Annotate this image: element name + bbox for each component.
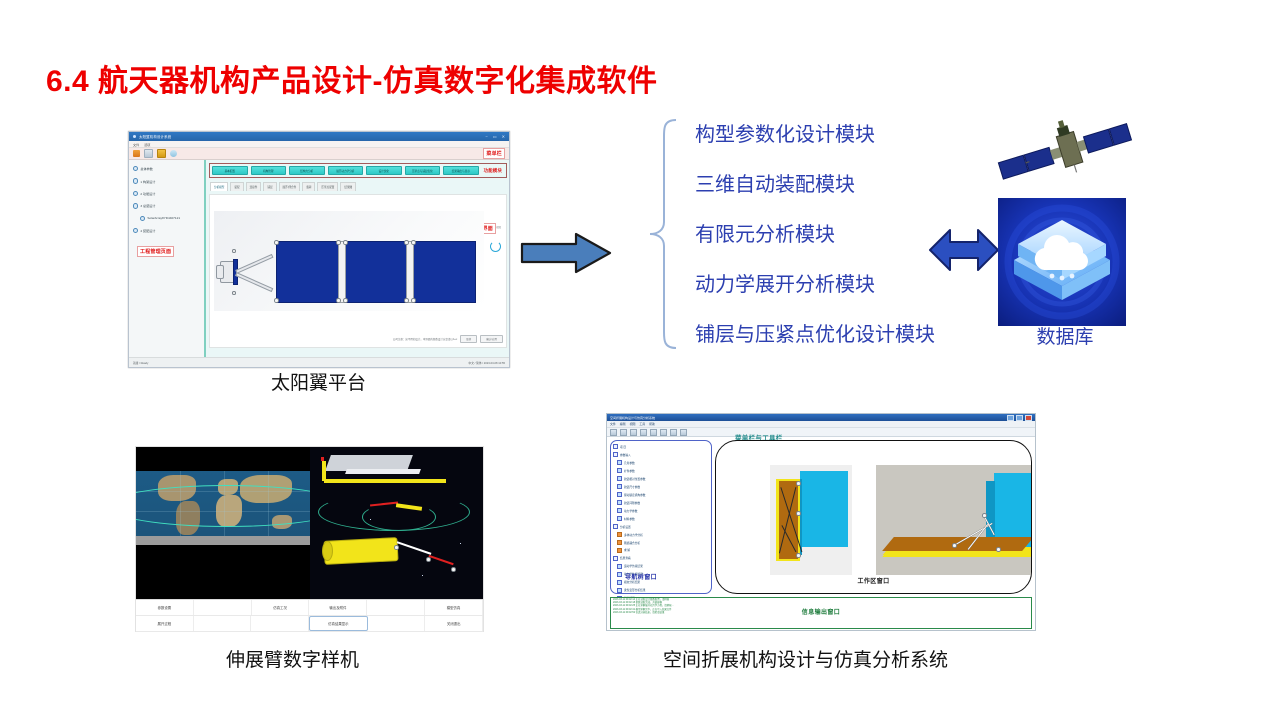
joint bbox=[982, 513, 987, 518]
tree-item-label: 分析设置 bbox=[620, 525, 631, 529]
menu-item-options[interactable]: 选项 bbox=[144, 142, 150, 147]
function-module-bar[interactable]: 基本配置 机构管理 结构力分析 展开动力学分析 设计优化 压紧点与铺层优化 结果… bbox=[209, 163, 507, 178]
solar-array-model bbox=[214, 211, 484, 311]
tree-node-icon bbox=[617, 540, 622, 545]
module-item-auto-assembly[interactable]: 三维自动装配模块 bbox=[695, 168, 985, 197]
boom-button-spacer bbox=[251, 616, 309, 631]
annotation-menu-bar: 菜单栏 bbox=[483, 148, 505, 159]
curly-brace-icon bbox=[648, 118, 678, 350]
tab-deploy[interactable]: 展开/闭合件 bbox=[279, 182, 301, 191]
settings-icon[interactable] bbox=[170, 150, 177, 157]
menu-item-tools[interactable]: 工具 bbox=[639, 422, 645, 426]
tree-item[interactable]: SolarArray8YD4407121 bbox=[140, 216, 201, 221]
tree-item[interactable]: 结果查看 bbox=[613, 556, 709, 561]
tree-item[interactable]: 杆件参数 bbox=[617, 468, 709, 473]
confirm-button[interactable]: 确认/应用 bbox=[480, 335, 503, 343]
menu-bar[interactable]: 文件 编辑 视图 工具 帮助 bbox=[607, 421, 1035, 428]
arrow-right-icon bbox=[520, 232, 612, 274]
tree-item[interactable]: 刚柔耦合分析 bbox=[617, 540, 709, 545]
tree-item-label: 刚柔耦合分析 bbox=[624, 541, 640, 545]
window-body: 总体参数 1 构架设计 2 功能设计 3 总装设计 SolarArray8YD4… bbox=[129, 160, 509, 368]
tree-node-icon bbox=[133, 166, 138, 171]
toolbar[interactable]: 菜单栏 bbox=[129, 148, 509, 160]
tree-node-icon bbox=[617, 532, 622, 537]
menu-item-view[interactable]: 视图 bbox=[630, 422, 636, 426]
hinge-pin bbox=[343, 298, 348, 303]
tree-item-label: 几何参数 bbox=[624, 461, 635, 465]
boom-button-spacer bbox=[367, 600, 425, 615]
solar-panel-3 bbox=[412, 241, 476, 303]
tree-node-icon bbox=[140, 216, 145, 221]
module-item-layup-optimization[interactable]: 铺层与压紧点优化设计模块 bbox=[695, 318, 985, 347]
tree-item[interactable]: 3 总装设计 bbox=[133, 203, 201, 208]
cancel-button[interactable]: 取消 bbox=[460, 335, 477, 343]
joint bbox=[952, 543, 957, 548]
caption-boom: 伸展臂数字样机 bbox=[226, 645, 359, 672]
tree-item[interactable]: 动力学参数 bbox=[617, 508, 709, 513]
orbit-arc-2 bbox=[362, 503, 436, 531]
paste-icon[interactable] bbox=[660, 429, 667, 436]
annotation-function-modules: 功能模块 bbox=[482, 168, 504, 174]
status-bar: 就绪 / Ready 中文 / 简体 / 2023-03-08 10:55 bbox=[129, 357, 509, 367]
tree-node-icon bbox=[617, 500, 622, 505]
deployed-panel-edge bbox=[345, 469, 421, 474]
solar-panel-2 bbox=[344, 241, 408, 303]
close-icon[interactable]: ✕ bbox=[502, 134, 505, 139]
boom-button-output[interactable]: 输出及附件 bbox=[309, 600, 367, 615]
main-interface-panel: 基本配置 机构管理 结构力分析 展开动力学分析 设计优化 压紧点与铺层优化 结果… bbox=[206, 160, 509, 368]
tree-item-label: 杆件参数 bbox=[624, 469, 635, 473]
close-icon[interactable] bbox=[1025, 415, 1032, 421]
open-icon[interactable] bbox=[620, 429, 627, 436]
tree-item[interactable]: 求 解 bbox=[617, 548, 709, 553]
tree-item[interactable]: 柔性变形分析结果 bbox=[617, 588, 709, 593]
window-control-buttons[interactable] bbox=[1007, 415, 1032, 421]
minimize-icon[interactable] bbox=[1007, 415, 1014, 421]
toolbar[interactable] bbox=[607, 428, 1035, 437]
satellite-icon bbox=[995, 113, 1135, 198]
tree-item[interactable]: 项 目 bbox=[613, 444, 709, 449]
tree-item-label: 模态分析结果 bbox=[624, 580, 640, 584]
tab-analysis-model[interactable]: 分析模型 bbox=[210, 182, 228, 191]
tree-node-icon bbox=[617, 460, 622, 465]
boom-joint bbox=[426, 557, 431, 562]
copy-icon[interactable] bbox=[650, 429, 657, 436]
tree-node-icon bbox=[617, 588, 622, 593]
boom-button-case[interactable]: 仿真工况 bbox=[252, 600, 310, 615]
support-arm-upper bbox=[235, 254, 273, 274]
function-button[interactable]: 结果输出与显示 bbox=[443, 166, 479, 175]
window-control-buttons[interactable]: − ▭ ✕ bbox=[486, 134, 505, 139]
deployed-panel bbox=[882, 537, 1032, 551]
hinge-gap-1 bbox=[338, 241, 346, 303]
annotation-output-window: 信息输出窗口 bbox=[802, 607, 840, 616]
boom-button-simulate[interactable]: 模型仿真 bbox=[425, 600, 483, 615]
maximize-icon[interactable]: ▭ bbox=[493, 134, 497, 139]
nav-tree-panel[interactable]: 项 目 参数输入 几何参数 杆件参数 铰链相对位置参数 铰链尺寸参数 驱动锁定机… bbox=[610, 440, 712, 594]
minimize-icon[interactable]: − bbox=[486, 134, 488, 139]
boom-joint bbox=[394, 545, 399, 550]
caption-deployable: 空间折展机构设计与仿真分析系统 bbox=[663, 645, 948, 672]
hinge-gap-2 bbox=[406, 241, 414, 303]
menu-item-help[interactable]: 帮助 bbox=[649, 422, 655, 426]
solar-wing-app-window[interactable]: 太阳翼机构设计系统 − ▭ ✕ 文件 选项 菜单栏 总体参数 bbox=[128, 131, 510, 368]
database-label: 数据库 bbox=[1010, 322, 1120, 349]
window-title-bar: 太阳翼机构设计系统 − ▭ ✕ bbox=[129, 132, 509, 141]
save-icon[interactable] bbox=[630, 429, 637, 436]
boom-root-block bbox=[322, 461, 326, 481]
tree-item-label: 驱动锁定机构参数 bbox=[624, 493, 646, 497]
tree-item[interactable]: 参数输入 bbox=[613, 452, 709, 457]
arrow-left-right-icon bbox=[928, 226, 1000, 274]
hinge-pin bbox=[274, 240, 279, 245]
canvas-footer: 公司注意：如不用的设计，本界面的参数设计方案请以A+x 取消 确认/应用 bbox=[393, 335, 503, 343]
page-title: 6.4 航天器机构产品设计-仿真数字化集成软件 bbox=[46, 56, 658, 100]
tree-item-label: 运动学仿真结果 bbox=[624, 564, 643, 568]
boom-3d-views[interactable] bbox=[310, 447, 483, 599]
boom-button-spacer bbox=[194, 600, 252, 615]
tree-item-label: 铰链尺寸参数 bbox=[624, 485, 640, 489]
hinge-pin bbox=[404, 298, 409, 303]
window-title-text: 太阳翼机构设计系统 bbox=[139, 134, 486, 139]
tree-node-icon bbox=[613, 452, 618, 457]
undo-icon[interactable] bbox=[670, 429, 677, 436]
cloud-database-icon bbox=[998, 198, 1126, 326]
tab-results[interactable]: 结果图 bbox=[340, 182, 356, 191]
boom-views bbox=[136, 447, 483, 599]
tree-item[interactable]: 多体动力学分析 bbox=[617, 532, 709, 537]
help-icon[interactable] bbox=[680, 429, 687, 436]
tree-node-icon bbox=[133, 178, 138, 183]
canvas-note-text: 公司注意：如不用的设计，本界面的参数设计方案请以A+x bbox=[393, 337, 457, 341]
boom-button-params[interactable]: 参数设置 bbox=[136, 600, 194, 615]
menu-bar[interactable]: 文件 选项 bbox=[129, 141, 509, 148]
yoke-root bbox=[216, 265, 224, 279]
tree-node-icon bbox=[617, 572, 622, 577]
refresh-icon[interactable] bbox=[490, 241, 501, 252]
hinge-pin bbox=[343, 240, 348, 245]
boom-button-spacer bbox=[194, 616, 252, 631]
joint bbox=[996, 547, 1001, 552]
output-window[interactable]: 2023-03-11 09:02:14 正在读取设计参数配置，请稍候 2023-… bbox=[610, 597, 1032, 629]
tree-item-label: 2 功能设计 bbox=[140, 191, 155, 196]
menu-item-file[interactable]: 文件 bbox=[133, 142, 139, 147]
hinge-pin bbox=[274, 298, 279, 303]
tree-item-label: 4 装配设计 bbox=[140, 228, 155, 233]
solar-panel-1 bbox=[276, 241, 340, 303]
map-scale-bar bbox=[136, 536, 310, 545]
canvas-side-text: 视图 bbox=[496, 225, 501, 229]
tree-item-label: 求 解 bbox=[624, 548, 630, 552]
joint bbox=[796, 511, 801, 516]
status-left-text: 就绪 / Ready bbox=[133, 361, 148, 365]
menu-item-file[interactable]: 文件 bbox=[610, 422, 616, 426]
boom-rail-top bbox=[324, 479, 446, 483]
tree-item[interactable]: 运动学仿真结果 bbox=[617, 564, 709, 569]
app-icon bbox=[133, 135, 136, 138]
folded-mechanism-view bbox=[770, 465, 852, 575]
hinge-pin bbox=[336, 298, 341, 303]
window-title-text: 空间折展机构设计与仿真分析系统 bbox=[610, 416, 1007, 420]
boom-prototype-app[interactable]: 参数设置 仿真工况 输出及附件 模型仿真 展开过程 仿真结果显示 关闭退出 bbox=[135, 446, 484, 632]
annotation-work-window: 工作区窗口 bbox=[857, 576, 889, 585]
button-row[interactable]: 展开过程 仿真结果显示 关闭退出 bbox=[136, 616, 483, 632]
tree-node-icon bbox=[617, 476, 622, 481]
ground-track bbox=[136, 485, 310, 527]
anchor-point bbox=[232, 249, 236, 253]
deployed-panel-edge bbox=[882, 553, 1032, 557]
boom-button-bar[interactable]: 参数设置 仿真工况 输出及附件 模型仿真 展开过程 仿真结果显示 关闭退出 bbox=[136, 599, 483, 630]
tab-load[interactable]: 载荷 bbox=[302, 182, 315, 191]
save-icon[interactable] bbox=[144, 149, 153, 158]
root-marker bbox=[321, 457, 324, 461]
tree-item[interactable]: 铰链尺寸参数 bbox=[617, 484, 709, 489]
tab-presspoint[interactable]: 压紧点配置 bbox=[317, 182, 338, 191]
export-icon[interactable] bbox=[157, 149, 166, 158]
joint bbox=[796, 553, 801, 558]
tab-bar[interactable]: 分析模型 装配 连接件 铺层 展开/闭合件 载荷 压紧点配置 结果图 bbox=[209, 182, 507, 191]
tree-node-icon bbox=[613, 556, 618, 561]
support-arm-lower bbox=[235, 272, 273, 292]
function-button[interactable]: 压紧点与铺层优化 bbox=[405, 166, 441, 175]
boom-tube bbox=[323, 537, 398, 565]
boom-button-exit[interactable]: 关闭退出 bbox=[425, 616, 483, 631]
tree-node-icon bbox=[613, 524, 618, 529]
tree-item[interactable]: 驱动锁定机构参数 bbox=[617, 492, 709, 497]
tree-item-label: 多体动力学分析 bbox=[624, 533, 643, 537]
satellite-body-block bbox=[800, 471, 848, 547]
tree-item[interactable]: 4 装配设计 bbox=[133, 228, 201, 233]
tree-item-label: 1 构架设计 bbox=[140, 179, 155, 184]
tree-item-label: 参数输入 bbox=[620, 453, 631, 457]
boom-button-results[interactable]: 仿真结果显示 bbox=[309, 616, 368, 631]
tree-node-icon bbox=[617, 484, 622, 489]
boom-button-deploy[interactable]: 展开过程 bbox=[136, 616, 194, 631]
function-button[interactable]: 设计优化 bbox=[366, 166, 402, 175]
slide-root: 6.4 航天器机构产品设计-仿真数字化集成软件 太阳翼机构设计系统 − ▭ ✕ … bbox=[0, 0, 1280, 720]
tree-node-icon bbox=[133, 203, 138, 208]
function-button[interactable]: 展开动力学分析 bbox=[328, 166, 364, 175]
annotation-project-tree: 工程管理页面 bbox=[137, 246, 174, 257]
boom-tube-cap bbox=[322, 541, 333, 561]
project-tree-panel[interactable]: 总体参数 1 构架设计 2 功能设计 3 总装设计 SolarArray8YD4… bbox=[129, 160, 206, 368]
tree-item-label: 总体参数 bbox=[140, 166, 152, 171]
function-button[interactable]: 机构管理 bbox=[251, 166, 287, 175]
tree-item-label: 材料参数 bbox=[624, 517, 635, 521]
tree-item[interactable]: 材料参数 bbox=[617, 516, 709, 521]
tab-assembly[interactable]: 装配 bbox=[230, 182, 243, 191]
tree-node-icon bbox=[617, 468, 622, 473]
tree-item-label: 动力学参数 bbox=[624, 509, 637, 513]
work-area[interactable]: 工作区窗口 bbox=[715, 440, 1032, 594]
tree-item-label: 3 总装设计 bbox=[140, 203, 155, 208]
tree-node-icon bbox=[617, 508, 622, 513]
tree-item-label: 柔性变形分析结果 bbox=[624, 588, 646, 592]
tree-node-icon bbox=[617, 516, 622, 521]
window-body: 项 目 参数输入 几何参数 杆件参数 铰链相对位置参数 铰链尺寸参数 驱动锁定机… bbox=[607, 437, 1035, 597]
tree-item[interactable]: 几何参数 bbox=[617, 460, 709, 465]
tree-node-icon bbox=[133, 191, 138, 196]
tree-node-icon bbox=[617, 492, 622, 497]
tree-item[interactable]: 2 功能设计 bbox=[133, 191, 201, 196]
world-map-view[interactable] bbox=[136, 447, 310, 599]
hinge-pin bbox=[411, 298, 416, 303]
tab-connector[interactable]: 连接件 bbox=[246, 182, 262, 191]
boom-tip bbox=[451, 567, 456, 572]
window-title-bar: 空间折展机构设计与仿真分析系统 bbox=[607, 414, 1035, 421]
tree-node-icon bbox=[617, 564, 622, 569]
tree-item-label: SolarArray8YD4407121 bbox=[147, 216, 180, 220]
tree-item[interactable]: 铰链相对位置参数 bbox=[617, 476, 709, 481]
tree-item-label: 铰链间隙参数 bbox=[624, 501, 640, 505]
tab-layup[interactable]: 铺层 bbox=[263, 182, 276, 191]
cut-icon[interactable] bbox=[640, 429, 647, 436]
world-map bbox=[136, 471, 310, 545]
tree-item[interactable]: 铰链间隙参数 bbox=[617, 500, 709, 505]
deployed-mechanism-view bbox=[876, 465, 1032, 575]
deployable-mechanism-app[interactable]: 空间折展机构设计与仿真分析系统 文件 编辑 视图 工具 帮助 菜单栏与工具栏 bbox=[606, 413, 1036, 631]
tree-node-icon bbox=[133, 228, 138, 233]
open-icon[interactable] bbox=[133, 150, 140, 157]
status-right-text: 中文 / 简体 / 2023-03-08 10:55 bbox=[469, 361, 505, 365]
maximize-icon[interactable] bbox=[1016, 415, 1023, 421]
function-button[interactable]: 结构力分析 bbox=[289, 166, 325, 175]
tree-item[interactable]: 1 构架设计 bbox=[133, 178, 201, 183]
tree-node-icon bbox=[617, 548, 622, 553]
boom-button-spacer bbox=[368, 616, 426, 631]
tree-node-icon bbox=[617, 580, 622, 585]
hinge-pin bbox=[404, 240, 409, 245]
new-icon[interactable] bbox=[610, 429, 617, 436]
hinge-pin bbox=[336, 240, 341, 245]
button-row[interactable]: 参数设置 仿真工况 输出及附件 模型仿真 bbox=[136, 600, 483, 616]
satellite-body-block bbox=[994, 473, 1032, 547]
3d-canvas[interactable]: 主界面 bbox=[209, 194, 507, 348]
tree-item[interactable]: 分析设置 bbox=[613, 524, 709, 529]
module-item-parametric-design[interactable]: 构型参数化设计模块 bbox=[695, 118, 985, 147]
anchor-point bbox=[232, 291, 236, 295]
joint bbox=[796, 481, 801, 486]
tree-item-label: 项 目 bbox=[620, 445, 626, 449]
tree-item[interactable]: 总体参数 bbox=[133, 166, 201, 171]
tree-item-label: 铰链相对位置参数 bbox=[624, 477, 646, 481]
caption-solar-wing: 太阳翼平台 bbox=[271, 368, 366, 395]
tree-item-label: 结果查看 bbox=[620, 556, 631, 560]
tree-node-icon bbox=[613, 444, 618, 449]
menu-item-edit[interactable]: 编辑 bbox=[620, 422, 626, 426]
function-button[interactable]: 基本配置 bbox=[212, 166, 248, 175]
hinge-pin bbox=[411, 240, 416, 245]
annotation-nav-tree: 导航树窗口 bbox=[625, 572, 657, 581]
